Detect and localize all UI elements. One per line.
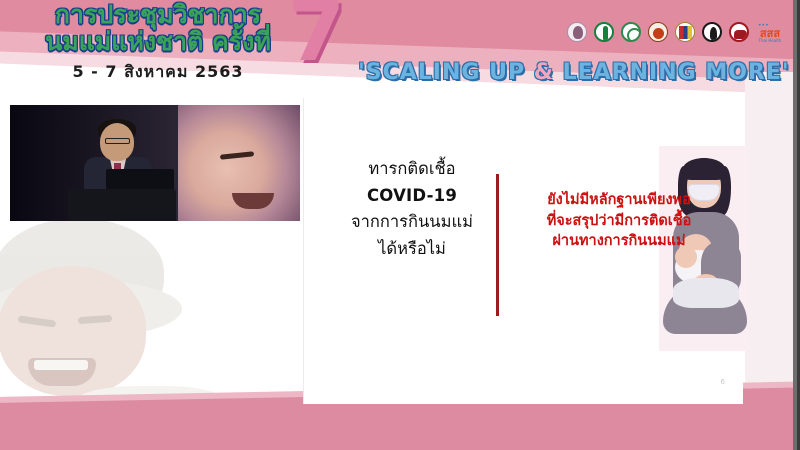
question-text-block: ทารกติดเชื้อ COVID-19 จากการกินนมแม่ ได้… <box>332 156 492 263</box>
thaihealth-sublabel: Thai Health <box>755 39 785 43</box>
right-pink-column <box>745 72 793 412</box>
presentation-slide: การประชุมวิชาการ นมแม่แห่งชาติ ครั้งที่ … <box>0 0 793 450</box>
question-line-4: ได้หรือไม่ <box>332 236 492 263</box>
tagline-ampersand: & <box>534 60 554 85</box>
royal-thai-emblem-logo-icon <box>674 22 696 48</box>
screen-root: การประชุมวิชาการ นมแม่แห่งชาติ ครั้งที่ … <box>0 0 800 450</box>
conference-tagline: 'SCALING UP & LEARNING MORE' <box>358 60 790 85</box>
tagline-suffix: LEARNING MORE' <box>554 60 790 85</box>
conference-title-line2: นมแม่แห่งชาติ ครั้งที่ <box>18 29 298 54</box>
tagline-prefix: 'SCALING UP <box>358 60 534 85</box>
breastfeeding-foundation-logo-icon <box>566 22 588 48</box>
conference-title-block: การประชุมวิชาการ นมแม่แห่งชาติ ครั้งที่ … <box>18 2 298 85</box>
royal-emblem-logo-icon <box>647 22 669 48</box>
edition-number: 7 <box>288 0 345 74</box>
red-crest-logo-icon <box>728 22 750 48</box>
university-seal-logo-icon <box>701 22 723 48</box>
conference-date: 5 - 7 สิงหาคม 2563 <box>18 60 298 85</box>
answer-text-block: ยังไม่มีหลักฐานเพียงพอ ที่จะสรุปว่ามีการ… <box>504 190 734 252</box>
answer-line-3: ผ่านทางการกินนมแม่ <box>504 231 734 252</box>
answer-line-1: ยังไม่มีหลักฐานเพียงพอ <box>504 190 734 211</box>
question-line-2: COVID-19 <box>332 183 492 210</box>
answer-line-2: ที่จะสรุปว่ามีการติดเชื้อ <box>504 211 734 232</box>
department-health-logo-icon <box>620 22 642 48</box>
red-vertical-divider <box>496 174 499 316</box>
conference-title-line1: การประชุมวิชาการ <box>18 2 298 27</box>
sponsor-logo-row: ••• สสส Thai Health <box>566 22 785 48</box>
slide-content-card: ทารกติดเชื้อ COVID-19 จากการกินนมแม่ ได้… <box>303 98 743 404</box>
speaker-video-thumbnail[interactable] <box>10 105 300 221</box>
slide-page-number: 6 <box>721 378 725 386</box>
question-line-1: ทารกติดเชื้อ <box>332 156 492 183</box>
question-line-3: จากการกินนมแม่ <box>332 209 492 236</box>
thaihealth-sss-logo-icon: ••• สสส Thai Health <box>755 22 785 48</box>
ministry-public-health-logo-icon <box>593 22 615 48</box>
